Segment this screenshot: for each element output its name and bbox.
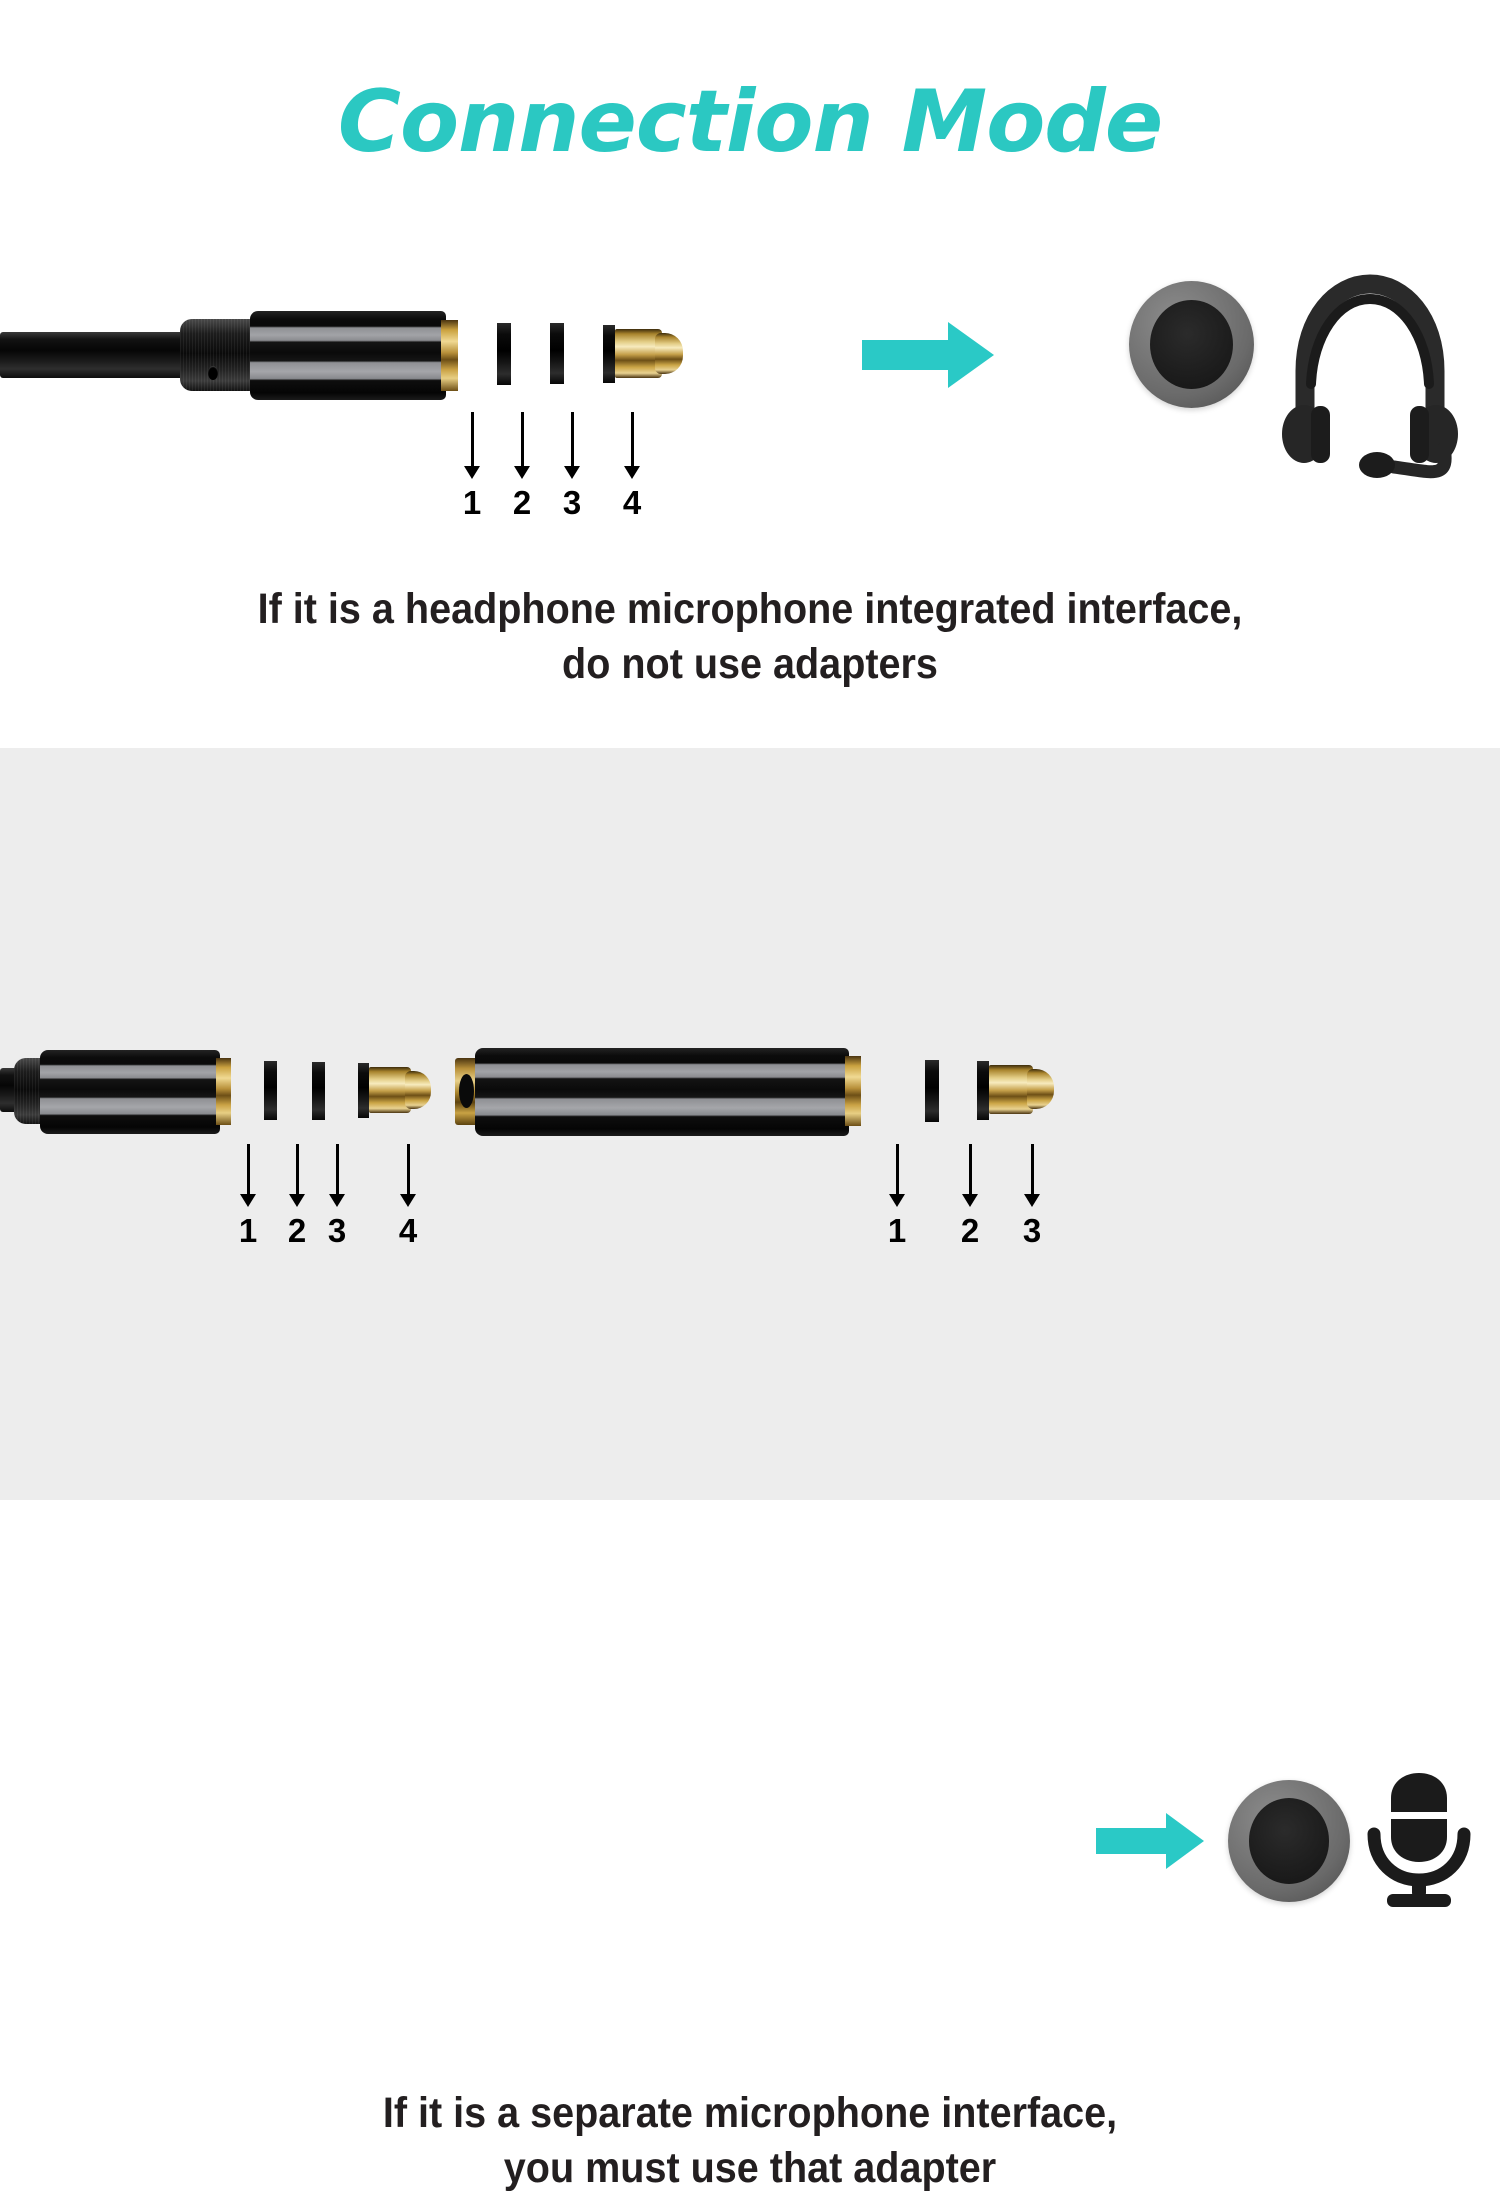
pin-number: 1 <box>888 1212 906 1250</box>
insulator-ring-3 <box>603 325 615 383</box>
pin-number: 1 <box>463 484 481 522</box>
arrow-shaft <box>1096 1828 1172 1854</box>
pin-label-1: 1 <box>228 1144 268 1254</box>
pin-number: 2 <box>513 484 531 522</box>
pin-number: 3 <box>563 484 581 522</box>
pin-arrow-line <box>969 1144 972 1196</box>
gold-segment-1 <box>229 1061 264 1121</box>
pin-number: 1 <box>239 1212 257 1250</box>
gold-segment-2 <box>511 323 550 385</box>
plug-tip-cone <box>1027 1069 1054 1109</box>
pin-label-1: 1 <box>877 1144 917 1254</box>
bottom-caption: If it is a separate microphone interface… <box>60 2086 1440 2196</box>
pin-number: 2 <box>288 1212 306 1250</box>
gold-segment-1 <box>859 1060 925 1123</box>
bottom-caption-line2: you must use that adapter <box>60 2141 1440 2196</box>
insulator-ring-2 <box>312 1062 325 1120</box>
adapter-socket-hole <box>459 1074 474 1108</box>
pin-number: 3 <box>1023 1212 1041 1250</box>
pin-label-1: 1 <box>452 412 492 522</box>
pin-arrow-line <box>407 1144 410 1196</box>
gold-segment-2 <box>939 1060 977 1121</box>
trrs-plug-bottom-left: 1 2 3 4 <box>0 1036 470 1146</box>
arrow-right-icon <box>1096 1813 1204 1869</box>
bottom-section: 1 2 3 4 <box>0 748 1500 1500</box>
jack-port-hole <box>1150 300 1233 389</box>
arrow-right-icon <box>862 322 994 388</box>
cable <box>0 332 188 378</box>
pin-label-2: 2 <box>277 1144 317 1254</box>
pin-number: 4 <box>399 1212 417 1250</box>
strain-relief-hole <box>208 366 218 380</box>
pin-arrow-line <box>1031 1144 1034 1196</box>
top-caption-line2: do not use adapters <box>60 637 1440 692</box>
trrs-plug-top: 1 2 3 4 <box>0 300 700 410</box>
pin-number: 2 <box>961 1212 979 1250</box>
pin-arrow-line <box>247 1144 250 1196</box>
pin-arrow-head <box>400 1194 416 1207</box>
pin-arrow-head <box>240 1194 256 1207</box>
bottom-caption-line1: If it is a separate microphone interface… <box>60 2086 1440 2141</box>
pin-arrow-head <box>889 1194 905 1207</box>
gold-segment-3 <box>564 324 603 384</box>
pin-label-4: 4 <box>612 412 652 522</box>
microphone-icon <box>1360 1770 1478 1910</box>
pin-arrow-head <box>329 1194 345 1207</box>
insulator-ring-2 <box>977 1061 989 1120</box>
page-title: Connection Mode <box>0 72 1500 172</box>
pin-label-3: 3 <box>552 412 592 522</box>
pin-arrow-line <box>631 412 634 468</box>
gold-segment-1 <box>456 323 497 386</box>
pin-label-2: 2 <box>950 1144 990 1254</box>
plug-barrel <box>40 1050 220 1134</box>
pin-number: 3 <box>328 1212 346 1250</box>
trrs-to-trs-adapter: 1 2 3 <box>455 1036 1085 1146</box>
plug-barrel <box>250 311 446 400</box>
pin-arrow-line <box>336 1144 339 1196</box>
plug-tip-cone <box>655 333 683 374</box>
pin-label-3: 3 <box>317 1144 357 1254</box>
insulator-ring-1 <box>264 1061 277 1120</box>
pin-label-4: 4 <box>388 1144 428 1254</box>
insulator-ring-1 <box>925 1060 939 1122</box>
strain-relief <box>180 319 258 391</box>
pin-arrow-head <box>564 466 580 479</box>
pin-arrow-line <box>296 1144 299 1196</box>
pin-arrow-line <box>896 1144 899 1196</box>
pin-arrow-head <box>289 1194 305 1207</box>
pin-arrow-line <box>571 412 574 468</box>
pin-arrow-head <box>962 1194 978 1207</box>
headset-with-boom-mic-icon <box>1264 266 1476 494</box>
jack-port-hole <box>1249 1798 1330 1883</box>
pin-number: 4 <box>623 484 641 522</box>
gold-segment-2 <box>277 1061 312 1120</box>
gold-segment-3 <box>325 1062 358 1119</box>
insulator-ring-3 <box>358 1063 369 1118</box>
arrow-head <box>1166 1813 1204 1869</box>
pin-arrow-head <box>514 466 530 479</box>
top-section: Connection Mode <box>0 0 1500 748</box>
top-caption: If it is a headphone microphone integrat… <box>60 582 1440 692</box>
plug-tip-cone <box>405 1071 431 1109</box>
insulator-ring-2 <box>550 323 564 384</box>
infographic-page: Connection Mode <box>0 0 1500 1500</box>
adapter-barrel <box>475 1048 849 1136</box>
pin-arrow-line <box>471 412 474 468</box>
pin-arrow-line <box>521 412 524 468</box>
jack-port-icon <box>1129 281 1254 408</box>
arrow-shaft <box>862 340 954 370</box>
insulator-ring-1 <box>497 323 511 385</box>
pin-arrow-head <box>1024 1194 1040 1207</box>
jack-port-icon <box>1228 1780 1350 1902</box>
pin-arrow-head <box>624 466 640 479</box>
top-caption-line1: If it is a headphone microphone integrat… <box>60 582 1440 637</box>
pin-arrow-head <box>464 466 480 479</box>
pin-label-2: 2 <box>502 412 542 522</box>
arrow-head <box>948 322 994 388</box>
pin-label-3: 3 <box>1012 1144 1052 1254</box>
